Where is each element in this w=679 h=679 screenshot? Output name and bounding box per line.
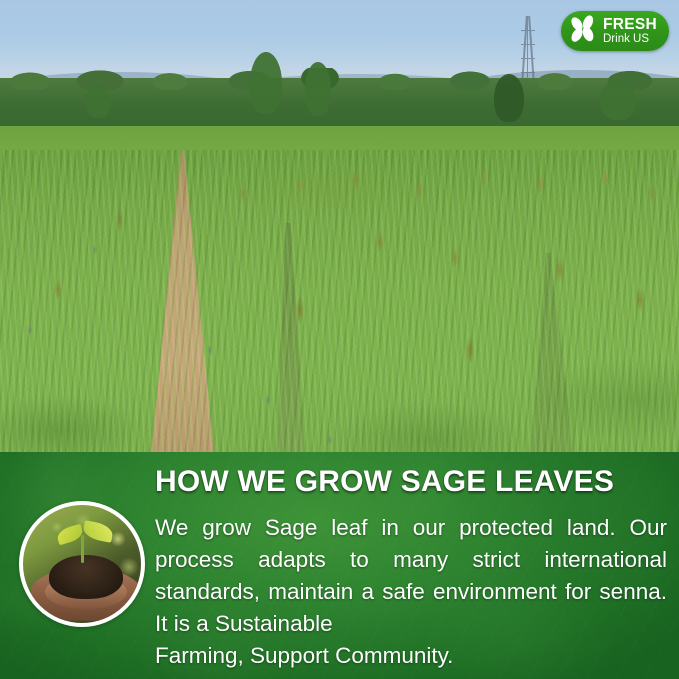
- hands-holding-seedling-photo: [19, 501, 145, 627]
- crop-texture: [0, 150, 679, 453]
- banner-title: HOW WE GROW SAGE LEAVES: [155, 467, 665, 497]
- sage-field-photo: [0, 0, 679, 453]
- flower-spikes: [0, 150, 679, 453]
- dirt-path: [150, 150, 214, 453]
- sage-blossoms: [0, 150, 679, 453]
- tree: [600, 80, 636, 120]
- sage-crop-field: [0, 150, 679, 453]
- fresh-drink-us-logo[interactable]: FRESH Drink US: [561, 11, 669, 51]
- leaf-cluster-icon: [569, 15, 599, 48]
- tree: [494, 74, 524, 122]
- crop-row-gap: [520, 253, 576, 453]
- logo-line-2: Drink US: [603, 34, 657, 46]
- banner-body-text: We grow Sage leaf in our protected land.…: [155, 512, 667, 672]
- crop-shading: [0, 150, 679, 453]
- tree: [250, 52, 282, 114]
- tree: [86, 84, 110, 118]
- soil-mound: [49, 555, 123, 599]
- product-infographic-card: FRESH Drink US HOW WE GROW SAGE LEAVES W…: [0, 0, 679, 679]
- seedling-stem: [81, 535, 84, 563]
- crop-texture: [0, 150, 679, 453]
- logo-line-1: FRESH: [603, 17, 657, 33]
- body-paragraph: Farming, Support Community.: [155, 640, 667, 672]
- body-paragraph: We grow Sage leaf in our protected land.…: [155, 512, 667, 640]
- crop-row-gap: [268, 223, 308, 453]
- tree: [305, 62, 331, 116]
